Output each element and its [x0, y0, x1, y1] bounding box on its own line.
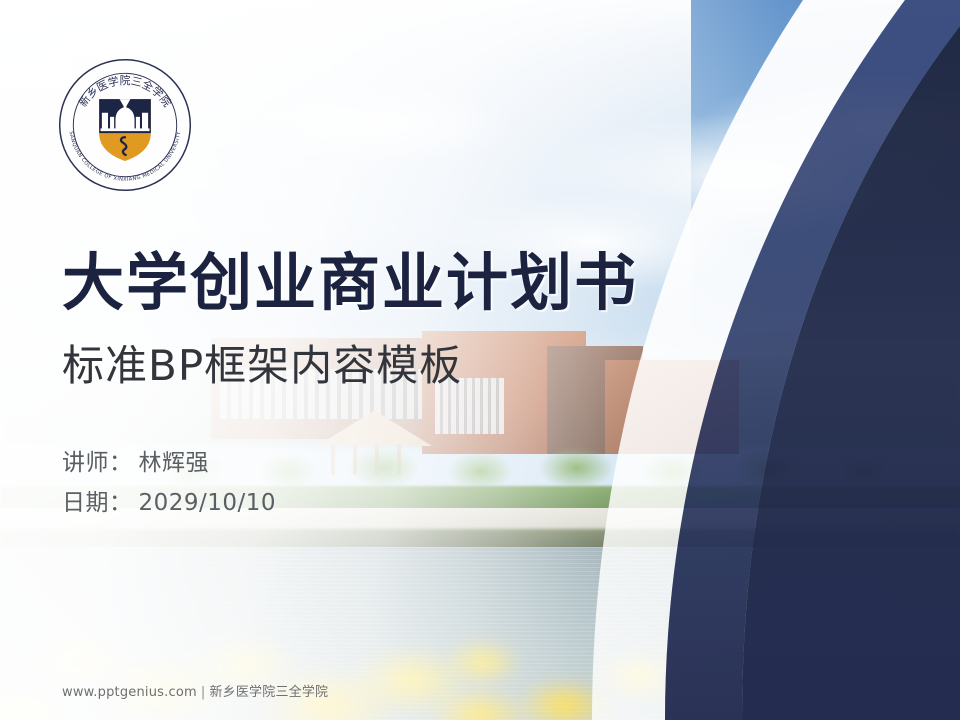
- footer-org: 新乡医学院三全学院: [209, 685, 328, 700]
- title-slide: 新乡医学院三全学院 SANQUAN COLLEGE OF XINXIANG ME…: [0, 0, 960, 720]
- date-row: 日期：2029/10/10: [62, 484, 276, 524]
- page-title: 大学创业商业计划书: [62, 252, 638, 314]
- date-label: 日期：: [62, 484, 133, 524]
- footer-site[interactable]: www.pptgenius.com: [62, 685, 197, 700]
- presenter-value: 林辉强: [139, 444, 210, 484]
- presenter-label: 讲师：: [62, 444, 133, 484]
- date-value: 2029/10/10: [139, 484, 277, 524]
- presentation-meta: 讲师：林辉强 日期：2029/10/10: [62, 444, 276, 523]
- presenter-row: 讲师：林辉强: [62, 444, 276, 484]
- footer-separator: |: [201, 685, 206, 700]
- university-logo: 新乡医学院三全学院 SANQUAN COLLEGE OF XINXIANG ME…: [57, 57, 193, 193]
- page-subtitle: 标准BP框架内容模板: [62, 345, 462, 387]
- footer: www.pptgenius.com|新乡医学院三全学院: [62, 681, 328, 700]
